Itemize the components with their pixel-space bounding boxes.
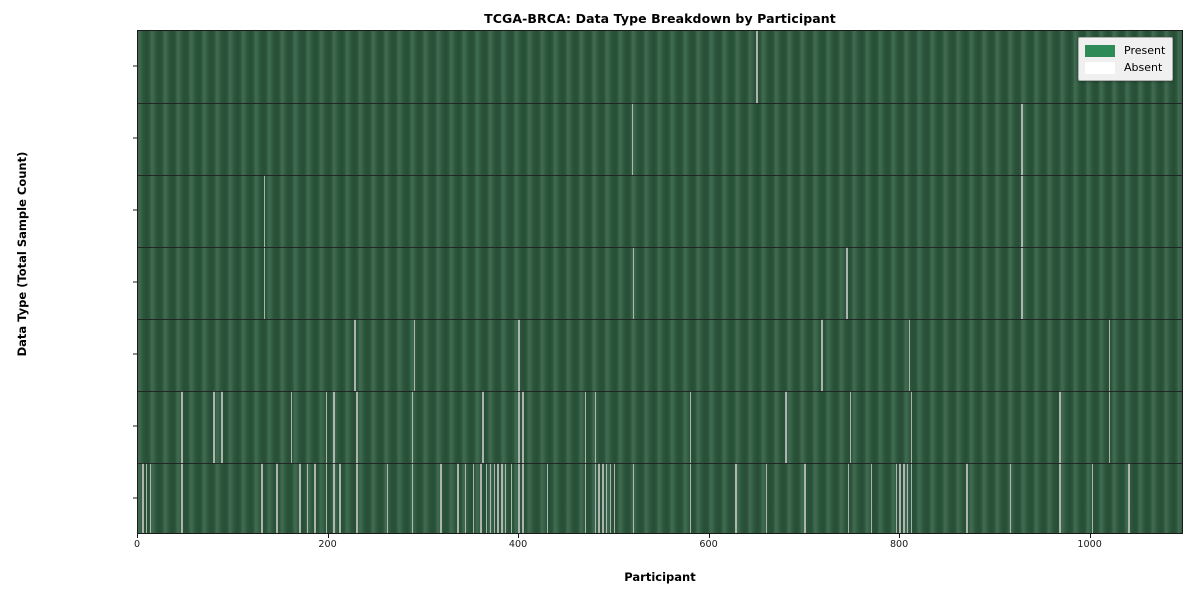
heatmap-absent-cell xyxy=(871,463,873,534)
heatmap-absent-cell xyxy=(181,391,183,463)
heatmap-absent-cell xyxy=(412,463,414,534)
heatmap-absent-cell xyxy=(473,463,475,534)
heatmap-row-present-fill xyxy=(138,319,1182,391)
heatmap-absent-cell xyxy=(490,463,492,534)
heatmap-absent-cell xyxy=(482,391,484,463)
heatmap-absent-cell xyxy=(804,463,806,534)
heatmap-absent-cell xyxy=(1128,463,1130,534)
heatmap-absent-cell xyxy=(690,391,692,463)
heatmap-absent-cell xyxy=(632,103,634,175)
x-tick-mark xyxy=(518,534,519,538)
legend-entry-absent: Absent xyxy=(1085,59,1165,76)
heatmap-absent-cell xyxy=(440,463,442,534)
heatmap-absent-cell xyxy=(142,463,144,534)
y-tick-mark xyxy=(133,138,137,139)
x-tick-mark xyxy=(899,534,900,538)
y-tick-mark xyxy=(133,498,137,499)
heatmap-absent-cell xyxy=(610,463,612,534)
heatmap-absent-cell xyxy=(511,463,513,534)
heatmap-absent-cell xyxy=(606,463,608,534)
x-tick-label: 1000 xyxy=(1077,539,1101,550)
heatmap-absent-cell xyxy=(848,463,850,534)
heatmap-row-present-fill xyxy=(138,31,1182,103)
heatmap-absent-cell xyxy=(1021,103,1023,175)
x-tick-label: 0 xyxy=(134,539,140,550)
heatmap-row-present-fill xyxy=(138,463,1182,534)
y-tick-mark xyxy=(133,354,137,355)
x-tick-mark xyxy=(137,534,138,538)
y-tick-mark xyxy=(133,426,137,427)
heatmap-absent-cell xyxy=(465,463,467,534)
heatmap-absent-cell xyxy=(595,391,597,463)
y-axis-label: Data Type (Total Sample Count) xyxy=(15,114,29,394)
heatmap-absent-cell xyxy=(595,463,597,534)
x-tick-label: 800 xyxy=(890,539,908,550)
heatmap-absent-cell xyxy=(276,463,278,534)
heatmap-absent-cell xyxy=(585,391,587,463)
heatmap-absent-cell xyxy=(291,391,293,463)
heatmap-absent-cell xyxy=(899,463,901,534)
heatmap-absent-cell xyxy=(356,463,358,534)
heatmap-absent-cell xyxy=(633,463,635,534)
heatmap-row[interactable] xyxy=(138,319,1182,391)
heatmap-absent-cell xyxy=(846,247,848,319)
heatmap-absent-cell xyxy=(1109,319,1111,391)
heatmap-row[interactable] xyxy=(138,247,1182,319)
heatmap-absent-cell xyxy=(261,463,263,534)
heatmap-absent-cell xyxy=(150,463,152,534)
heatmap-absent-cell xyxy=(486,463,488,534)
heatmap-absent-cell xyxy=(1021,175,1023,247)
legend-swatch-present-icon xyxy=(1085,45,1115,57)
heatmap-absent-cell xyxy=(221,391,223,463)
heatmap-absent-cell xyxy=(264,247,266,319)
heatmap-absent-cell xyxy=(356,391,358,463)
heatmap-absent-cell xyxy=(480,463,482,534)
heatmap-absent-cell xyxy=(414,319,416,391)
heatmap-absent-cell xyxy=(598,463,600,534)
heatmap-row[interactable] xyxy=(138,391,1182,463)
heatmap-absent-cell xyxy=(522,463,524,534)
heatmap-absent-cell xyxy=(766,463,768,534)
heatmap-absent-cell xyxy=(518,463,520,534)
heatmap-absent-cell xyxy=(585,463,587,534)
heatmap-row[interactable] xyxy=(138,103,1182,175)
heatmap-absent-cell xyxy=(518,391,520,463)
heatmap-row-present-fill xyxy=(138,103,1182,175)
x-tick-label: 400 xyxy=(509,539,527,550)
heatmap-plot-area[interactable] xyxy=(137,30,1183,534)
chart-legend[interactable]: Present Absent xyxy=(1078,37,1173,81)
heatmap-absent-cell xyxy=(850,391,852,463)
heatmap-absent-cell xyxy=(1059,463,1061,534)
x-tick-mark xyxy=(1090,534,1091,538)
x-tick-label: 200 xyxy=(318,539,336,550)
heatmap-absent-cell xyxy=(690,463,692,534)
x-tick-label: 600 xyxy=(699,539,717,550)
chart-title: TCGA-BRCA: Data Type Breakdown by Partic… xyxy=(137,11,1183,26)
heatmap-row[interactable] xyxy=(138,463,1182,534)
heatmap-absent-cell xyxy=(333,391,335,463)
heatmap-absent-cell xyxy=(602,463,604,534)
heatmap-absent-cell xyxy=(333,463,335,534)
legend-swatch-absent-icon xyxy=(1085,62,1115,74)
x-tick-mark xyxy=(709,534,710,538)
heatmap-absent-cell xyxy=(326,391,328,463)
heatmap-absent-cell xyxy=(1109,391,1111,463)
heatmap-absent-cell xyxy=(966,463,968,534)
heatmap-absent-cell xyxy=(505,463,507,534)
heatmap-row[interactable] xyxy=(138,175,1182,247)
heatmap-absent-cell xyxy=(1010,463,1012,534)
heatmap-absent-cell xyxy=(213,391,215,463)
heatmap-absent-cell xyxy=(614,463,616,534)
heatmap-absent-cell xyxy=(1021,247,1023,319)
heatmap-absent-cell xyxy=(339,463,341,534)
heatmap-absent-cell xyxy=(518,319,520,391)
heatmap-absent-cell xyxy=(909,319,911,391)
heatmap-absent-cell xyxy=(457,463,459,534)
heatmap-absent-cell xyxy=(494,463,496,534)
heatmap-absent-cell xyxy=(1092,463,1094,534)
heatmap-absent-cell xyxy=(387,463,389,534)
heatmap-row-present-fill xyxy=(138,175,1182,247)
heatmap-absent-cell xyxy=(756,31,758,103)
heatmap-absent-cell xyxy=(307,463,309,534)
y-tick-mark xyxy=(133,66,137,67)
heatmap-figure: TCGA-BRCA: Data Type Breakdown by Partic… xyxy=(0,0,1200,600)
heatmap-row[interactable] xyxy=(138,31,1182,103)
heatmap-absent-cell xyxy=(501,463,503,534)
heatmap-absent-cell xyxy=(354,319,356,391)
legend-label-present: Present xyxy=(1124,44,1165,57)
heatmap-absent-cell xyxy=(785,391,787,463)
heatmap-absent-cell xyxy=(903,463,905,534)
heatmap-absent-cell xyxy=(264,175,266,247)
heatmap-absent-cell xyxy=(896,463,898,534)
heatmap-absent-cell xyxy=(735,463,737,534)
heatmap-absent-cell xyxy=(181,463,183,534)
y-tick-mark xyxy=(133,210,137,211)
heatmap-absent-cell xyxy=(907,463,909,534)
y-tick-mark xyxy=(133,282,137,283)
x-axis-label: Participant xyxy=(137,570,1183,584)
heatmap-absent-cell xyxy=(314,463,316,534)
heatmap-absent-cell xyxy=(146,463,148,534)
heatmap-absent-cell xyxy=(547,463,549,534)
heatmap-absent-cell xyxy=(412,391,414,463)
heatmap-absent-cell xyxy=(326,463,328,534)
heatmap-absent-cell xyxy=(1059,391,1061,463)
heatmap-absent-cell xyxy=(299,463,301,534)
heatmap-row-present-fill xyxy=(138,391,1182,463)
heatmap-absent-cell xyxy=(911,391,913,463)
heatmap-row-present-fill xyxy=(138,247,1182,319)
legend-label-absent: Absent xyxy=(1124,61,1162,74)
legend-entry-present: Present xyxy=(1085,42,1165,59)
heatmap-absent-cell xyxy=(497,463,499,534)
heatmap-absent-cell xyxy=(522,391,524,463)
x-tick-mark xyxy=(328,534,329,538)
heatmap-absent-cell xyxy=(633,247,635,319)
heatmap-absent-cell xyxy=(821,319,823,391)
heatmap-absent-cell xyxy=(911,463,913,534)
